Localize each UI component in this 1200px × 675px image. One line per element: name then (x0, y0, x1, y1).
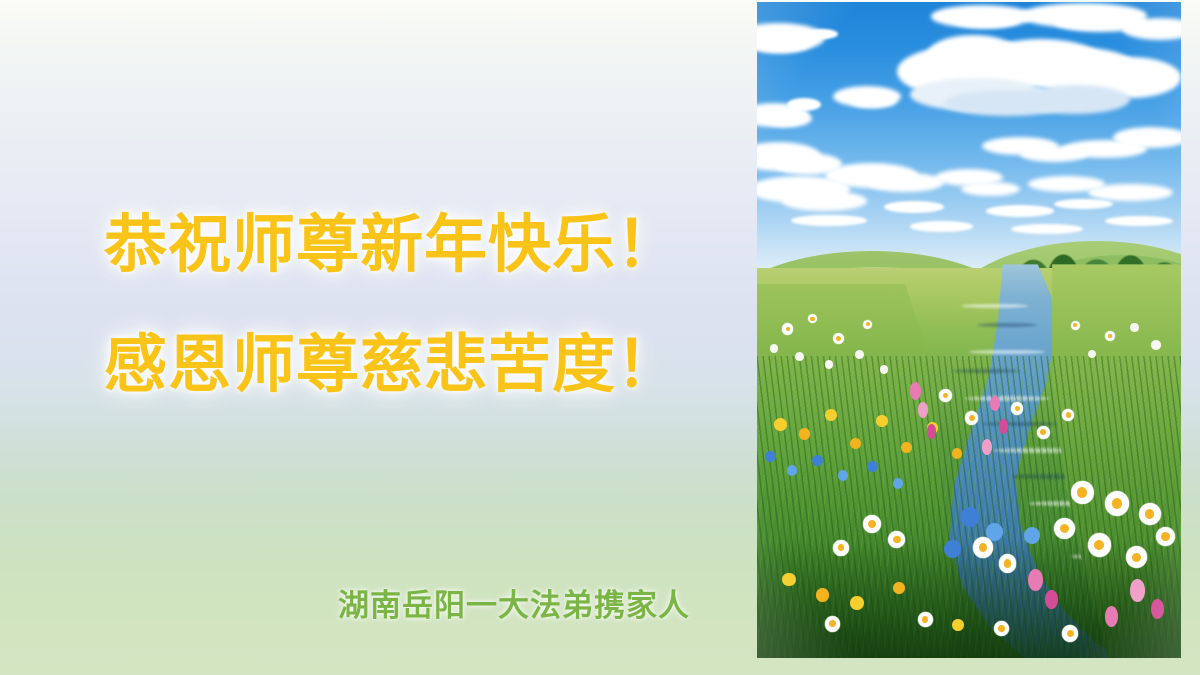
yellow-flower (799, 428, 810, 439)
daisy-flower (1011, 402, 1023, 414)
yellow-flower (825, 409, 837, 421)
daisy-flower (833, 333, 844, 344)
daisy-flower (1105, 331, 1115, 341)
yellow-flower (893, 582, 905, 594)
pink-flower (1151, 599, 1164, 619)
pink-flower (1028, 569, 1042, 591)
pink-flower (999, 419, 1008, 433)
blue-flower (961, 507, 980, 527)
daisy-flower (1071, 321, 1080, 330)
pink-flower (982, 439, 992, 455)
cloud-icon (1020, 85, 1130, 114)
white-flower (825, 360, 833, 369)
daisy-flower (1054, 518, 1075, 540)
daisy-flower (833, 540, 848, 556)
greeting-card: 恭祝师尊新年快乐！ 感恩师尊慈悲苦度！ 湖南岳阳一大法弟携家人 (0, 0, 1200, 675)
cloud-icon (867, 173, 943, 193)
cloud-icon (910, 221, 974, 231)
cloud-icon (765, 110, 812, 127)
daisy-flower (1037, 426, 1050, 439)
daisy-flower (782, 323, 793, 334)
daisy-flower (1088, 533, 1111, 557)
greeting-line-1: 恭祝师尊新年快乐！ (104, 212, 724, 278)
cloud-icon (782, 191, 867, 211)
daisy-flower (1071, 481, 1094, 505)
yellow-flower (816, 588, 829, 601)
blue-flower (1024, 527, 1040, 544)
yellow-flower (952, 448, 962, 458)
cloud-icon (787, 98, 821, 111)
daisy-flower (1126, 546, 1147, 568)
daisy-flower (863, 515, 881, 533)
daisy-flower (1139, 503, 1161, 525)
daisy-flower (973, 537, 993, 557)
daisy-flower (918, 612, 932, 627)
blue-flower (893, 478, 903, 488)
yellow-flower (774, 418, 787, 431)
signature-text: 湖南岳阳一大法弟携家人 (338, 580, 690, 625)
yellow-flower (850, 438, 861, 449)
greeting-line-2: 感恩师尊慈悲苦度！ (104, 332, 724, 398)
scenery-photo (757, 2, 1181, 658)
pink-flower (1130, 579, 1144, 601)
white-flower (1130, 323, 1138, 332)
white-flower (770, 344, 778, 353)
yellow-flower (850, 596, 864, 610)
blue-flower (787, 465, 797, 475)
daisy-flower (825, 616, 840, 632)
yellow-flower (876, 415, 888, 427)
photo-content (757, 2, 1181, 658)
pink-flower (927, 424, 936, 438)
daisy-flower (999, 554, 1017, 572)
pink-flower (1105, 606, 1119, 627)
daisy-flower (1062, 625, 1078, 641)
pink-flower (910, 382, 921, 399)
blue-flower (838, 470, 848, 480)
white-flower (855, 350, 864, 359)
yellow-flower (952, 619, 964, 631)
cloud-icon (1113, 127, 1181, 148)
cloud-icon (961, 182, 1020, 196)
white-flower (1151, 340, 1160, 349)
cloud-icon (850, 93, 897, 109)
daisy-flower (863, 320, 872, 329)
blue-flower (812, 455, 823, 466)
yellow-flower (901, 442, 912, 453)
